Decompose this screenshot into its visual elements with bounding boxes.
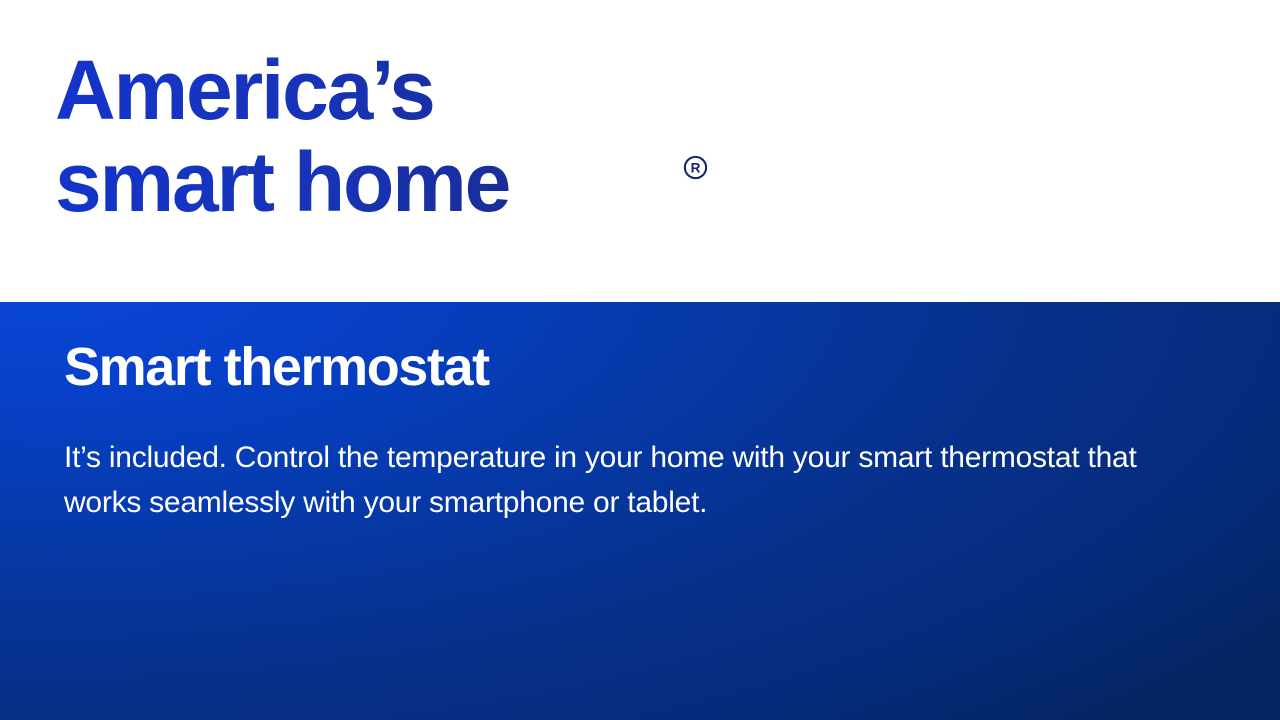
americas-smart-home-logo: America’s smart home [55, 44, 755, 228]
body-description: It’s included. Control the temperature i… [64, 435, 1204, 525]
brand-logo-line-2: smart home [55, 136, 755, 228]
registered-trademark-icon: R [683, 155, 708, 180]
content-inner: Smart thermostat It’s included. Control … [64, 302, 1224, 720]
content-panel: Smart thermostat It’s included. Control … [0, 302, 1280, 720]
svg-text:R: R [691, 160, 701, 175]
brand-band: America’s smart home R [0, 0, 1280, 302]
page-title: Smart thermostat [64, 338, 489, 396]
brand-logo-line-1: America’s [55, 44, 755, 136]
slide-canvas: America’s smart home R Smart thermostat … [0, 0, 1280, 720]
